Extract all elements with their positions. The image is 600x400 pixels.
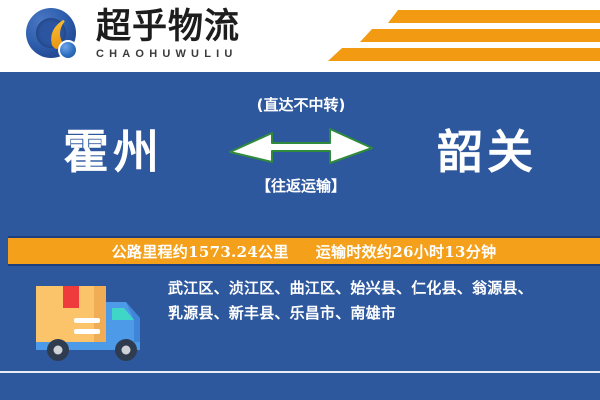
route-section: 霍州 (直达不中转) 【往返运输】 韶关 (0, 72, 600, 232)
logistics-route-banner: 超乎物流 CHAOHUWULIU 霍州 (直达不中转) 【往返运输】 韶关 公路… (0, 0, 600, 400)
chaohu-logistics-logo-icon (26, 8, 86, 66)
brand-name-cn: 超乎物流 (96, 8, 276, 46)
stripe-1 (388, 10, 600, 23)
distance-duration-bar: 公路里程约1573.24公里 运输时效约26小时13分钟 (8, 236, 600, 266)
bidirectional-arrow-icon (228, 121, 374, 167)
coverage-area-block: 武江区、浈江区、曲江区、始兴县、仁化县、翁源县、 乳源县、新丰县、乐昌市、南雄市 (168, 276, 588, 326)
coverage-line-2: 乳源县、新丰县、乐昌市、南雄市 (168, 301, 588, 326)
coverage-line-1: 武江区、浈江区、曲江区、始兴县、仁化县、翁源县、 (168, 276, 588, 301)
infobar-text-group: 公路里程约1573.24公里 运输时效约26小时13分钟 (112, 241, 497, 262)
header-stripes-decoration (300, 8, 600, 66)
brand-block: 超乎物流 CHAOHUWULIU (96, 8, 276, 60)
brand-name-pinyin: CHAOHUWULIU (96, 48, 276, 60)
bottom-divider (0, 371, 600, 373)
direct-shipping-note: (直达不中转) (228, 94, 374, 115)
origin-city: 霍州 (8, 116, 218, 182)
banner-header: 超乎物流 CHAOHUWULIU (0, 0, 600, 72)
logo-dot-shape (58, 40, 78, 60)
delivery-truck-icon (30, 276, 156, 364)
stripe-3 (328, 48, 600, 61)
duration-text: 运输时效约26小时13分钟 (316, 243, 497, 261)
stripe-2 (360, 29, 600, 42)
destination-city: 韶关 (382, 116, 592, 182)
route-arrow-block: (直达不中转) 【往返运输】 (228, 94, 374, 210)
distance-text: 公路里程约1573.24公里 (112, 243, 289, 261)
round-trip-note: 【往返运输】 (228, 175, 374, 196)
